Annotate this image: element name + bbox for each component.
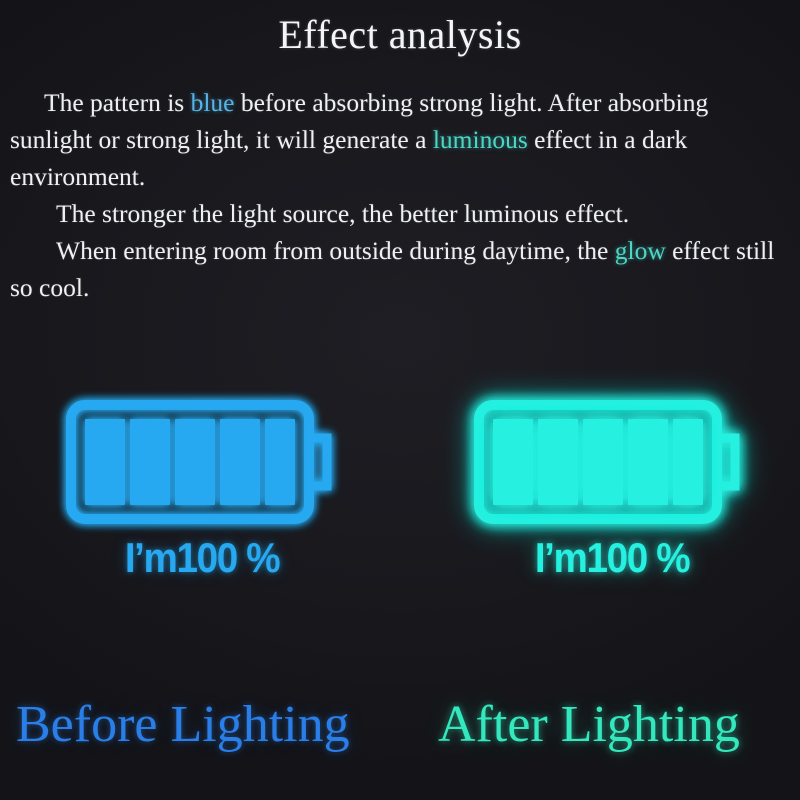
caption-before-lighting: Before Lighting xyxy=(16,694,350,756)
description-block: The pattern is blue before absorbing str… xyxy=(10,84,790,306)
battery-percent-label-before: I’m100 % xyxy=(36,536,367,580)
paragraph-2: The stronger the light source, the bette… xyxy=(10,195,790,232)
battery-full-icon xyxy=(66,400,332,524)
paragraph-3: When entering room from outside during d… xyxy=(10,232,790,306)
paragraph-1: The pattern is blue before absorbing str… xyxy=(10,84,790,195)
comparison-item-after: I’m100 % xyxy=(432,400,792,610)
comparison-item-before: I’m100 % xyxy=(22,400,382,610)
paragraph-1-segment-1: The pattern is xyxy=(44,88,191,117)
caption-after-lighting: After Lighting xyxy=(438,694,740,756)
page-title: Effect analysis xyxy=(0,12,800,58)
battery-percent-label-after: I’m100 % xyxy=(446,536,777,580)
keyword-glow: glow xyxy=(615,236,666,265)
keyword-blue: blue xyxy=(191,88,235,117)
keyword-luminous: luminous xyxy=(433,125,528,154)
effect-analysis-infographic: Effect analysis The pattern is blue befo… xyxy=(0,0,800,800)
battery-full-glowing-icon xyxy=(474,400,740,524)
paragraph-3-segment-1: When entering room from outside during d… xyxy=(56,236,615,265)
